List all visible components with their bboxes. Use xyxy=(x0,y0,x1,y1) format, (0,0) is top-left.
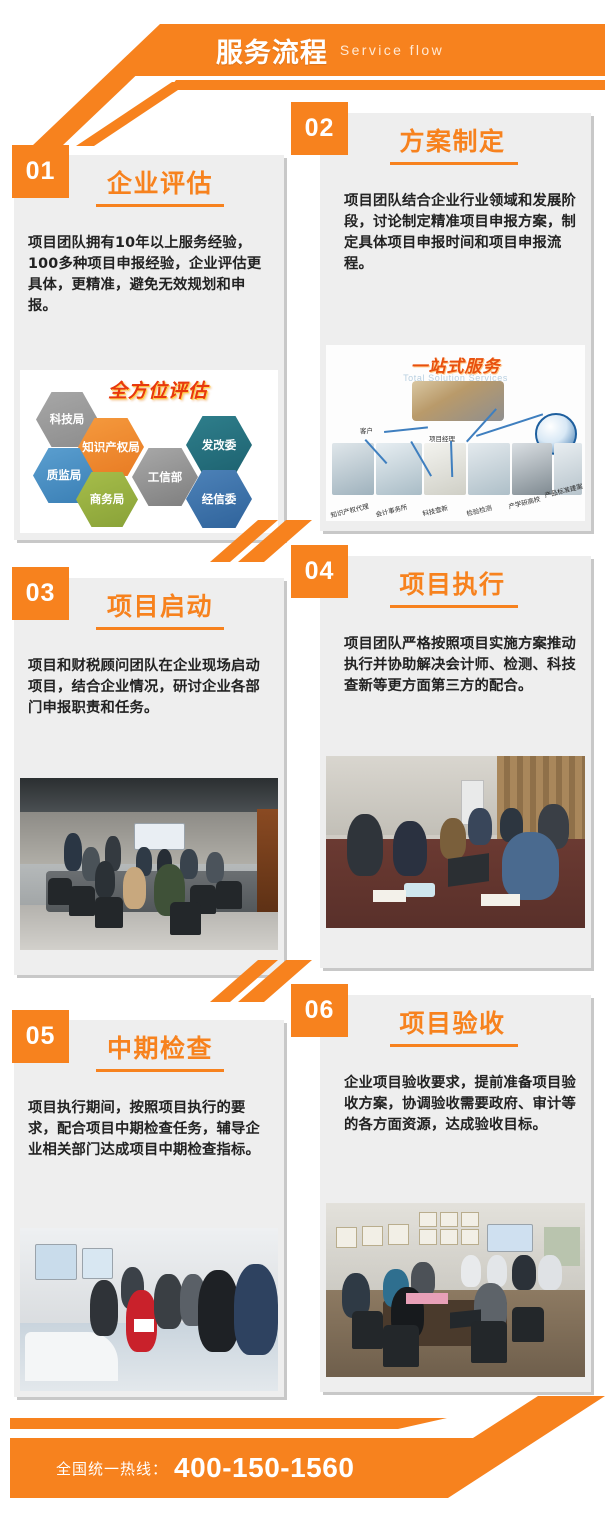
caption-accounting: 会计事务所 xyxy=(374,501,408,519)
step-number-badge: 03 xyxy=(12,567,69,620)
card-body-text: 项目执行期间，按照项目执行的要求，配合项目中期检查任务，辅导企业相关部门达成项目… xyxy=(14,1084,284,1171)
process-step-grid: 01 企业评估 项目团队拥有10年以上服务经验，100多种项目申报经验，企业评估… xyxy=(0,0,605,1538)
process-card-01: 01 企业评估 项目团队拥有10年以上服务经验，100多种项目申报经验，企业评估… xyxy=(14,155,284,540)
card-body-text: 项目团队结合企业行业领域和发展阶段，讨论制定精准项目申报方案，制定具体项目申报时… xyxy=(320,177,591,286)
title-underline xyxy=(96,204,224,207)
step-number-badge: 02 xyxy=(291,102,348,155)
photo-team-working-at-table xyxy=(326,756,585,928)
card-body-text: 企业项目验收要求，提前准备项目验收方案，协调验收需要政府、审计等的各方面资源，达… xyxy=(320,1059,591,1146)
process-card-03: 03 项目启动 项目和财税顾问团队在企业现场启动项目，结合企业情况，研讨企业各部… xyxy=(14,578,284,975)
process-card-02: 02 方案制定 项目团队结合企业行业领域和发展阶段，讨论制定精准项目申报方案，制… xyxy=(320,113,591,531)
caption-tech-search: 科技查新 xyxy=(421,502,449,518)
title-underline xyxy=(96,627,224,630)
step-number-badge: 01 xyxy=(12,145,69,198)
hex-fagaiwei: 发改委 xyxy=(186,416,252,474)
hotline-label: 全国统一热线： xyxy=(56,1458,168,1479)
node-label-customer: 客户 xyxy=(360,425,373,435)
step-number-badge: 04 xyxy=(291,545,348,598)
infographic-title: 全方位评估 xyxy=(108,376,208,403)
title-underline xyxy=(390,162,518,165)
caption-university: 产学研高校 xyxy=(507,493,541,511)
card-title: 项目执行 xyxy=(336,572,575,598)
process-card-04: 04 项目执行 项目团队严格按照项目实施方案推动执行并协助解决会计师、检测、科技… xyxy=(320,556,591,968)
card-title: 项目验收 xyxy=(336,1011,575,1037)
caption-ip-agency: 知识产权代理 xyxy=(329,500,369,519)
card-header: 项目验收 xyxy=(320,995,591,1059)
card-body-text: 项目和财税顾问团队在企业现场启动项目，结合企业情况，研讨企业各部门申报职责和任务… xyxy=(14,642,284,729)
photo-showroom-site-visit xyxy=(20,1228,278,1391)
card-body-text: 项目团队严格按照项目实施方案推动执行并协助解决会计师、检测、科技查新等更方面第三… xyxy=(320,620,591,707)
title-underline xyxy=(390,1044,518,1047)
photo-conference-room-meeting xyxy=(20,778,278,950)
caption-inspection: 检验检测 xyxy=(465,502,493,518)
hotline-number[interactable]: 400-150-1560 xyxy=(174,1452,354,1484)
card-header: 项目执行 xyxy=(320,556,591,620)
footer-hotline-group: 全国统一热线： 400-150-1560 xyxy=(56,1438,354,1498)
step-number-badge: 05 xyxy=(12,1010,69,1063)
hexagon-infographic: 全方位评估 科技局 知识产权局 质监局 商务局 工信部 发改委 经信委 xyxy=(20,370,278,533)
page-footer: 全国统一热线： 400-150-1560 xyxy=(0,1418,605,1538)
one-stop-service-diagram: 一站式服务 Total Solution Services 客户 项目经理 知识… xyxy=(326,345,585,521)
step-number-badge: 06 xyxy=(291,984,348,1037)
title-underline xyxy=(390,605,518,608)
card-header: 方案制定 xyxy=(320,113,591,177)
title-underline xyxy=(96,1069,224,1072)
photo-boardroom-acceptance-meeting xyxy=(326,1203,585,1377)
process-card-06: 06 项目验收 企业项目验收要求，提前准备项目验收方案，协调验收需要政府、审计等… xyxy=(320,995,591,1392)
card-body-text: 项目团队拥有10年以上服务经验，100多种项目申报经验，企业评估更具体，更精准，… xyxy=(14,219,284,328)
process-card-05: 05 中期检查 项目执行期间，按照项目执行的要求，配合项目中期检查任务，辅导企业… xyxy=(14,1020,284,1397)
card-title: 方案制定 xyxy=(336,129,575,155)
